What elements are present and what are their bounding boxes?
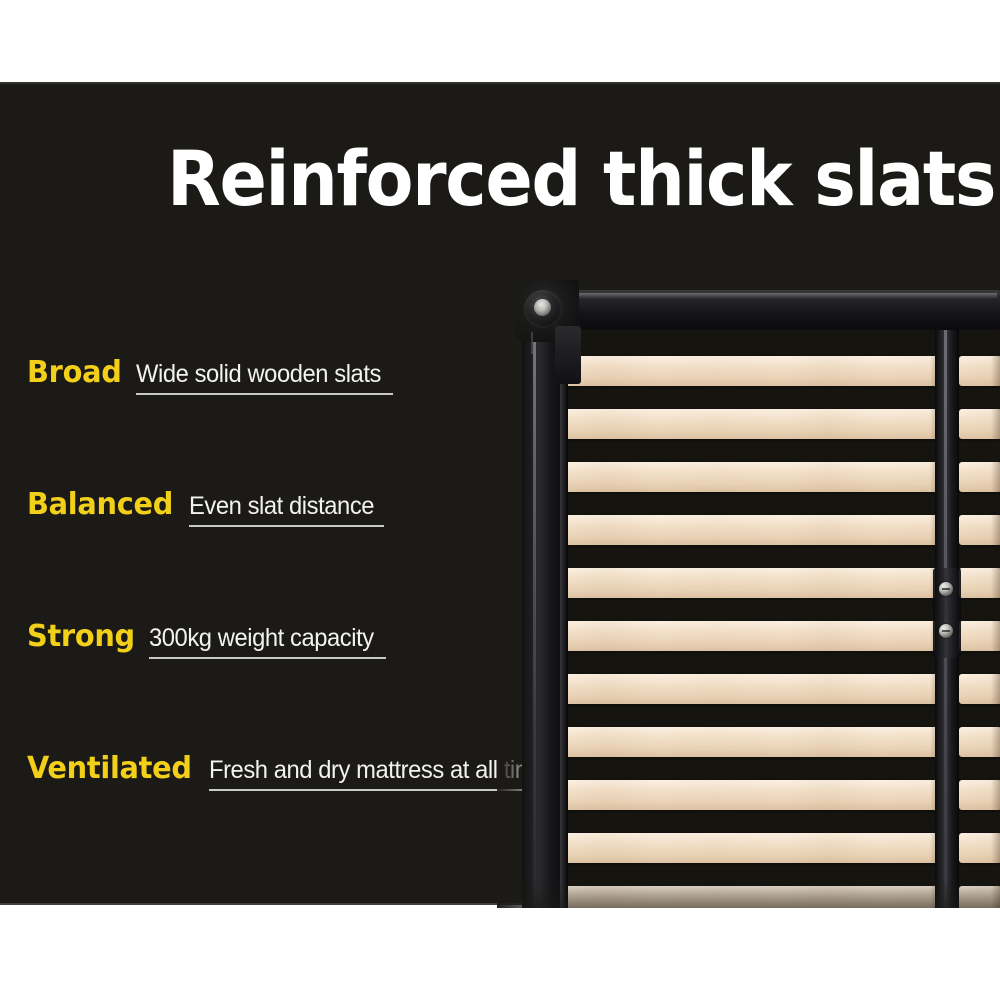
slat-end-cap [991, 462, 1000, 492]
feature-description-group: 300kg weight capacity [149, 624, 386, 659]
slat-wood-grain [567, 727, 939, 757]
wooden-slat [959, 568, 1000, 598]
page-title: Reinforced thick slats [167, 139, 995, 219]
wooden-slat [959, 356, 1000, 386]
wooden-slat [567, 833, 939, 863]
feature-term: Broad [27, 356, 122, 390]
wooden-slat [959, 886, 1000, 908]
wooden-slat [567, 568, 939, 598]
feature-item-broad: Broad Wide solid wooden slats [27, 356, 393, 395]
corner-bracket-seam [531, 332, 533, 354]
feature-description: Wide solid wooden slats [136, 360, 381, 388]
wooden-slat [567, 409, 939, 439]
feature-item-ventilated: Ventilated Fresh and dry mattress at all… [27, 752, 576, 791]
panel-top-edge [0, 82, 1000, 84]
feature-underline [149, 657, 386, 659]
wooden-slat [567, 886, 939, 908]
slat-wood-grain [567, 886, 939, 908]
feature-term: Balanced [27, 488, 173, 522]
product-photo-bed-slats [497, 268, 1000, 908]
wooden-slat [959, 462, 1000, 492]
slat-wood-grain [567, 833, 939, 863]
wooden-slat [959, 515, 1000, 545]
wooden-slat [567, 780, 939, 810]
wooden-slat [959, 409, 1000, 439]
slat-wood-grain [567, 674, 939, 704]
side-rail-inner-edge [560, 302, 567, 908]
wooden-slat [567, 356, 939, 386]
slat-end-cap [991, 674, 1000, 704]
screw-icon [939, 582, 953, 596]
wooden-slat [959, 621, 1000, 651]
slat-wood-grain [567, 356, 939, 386]
slat-end-cap [991, 886, 1000, 908]
slat-end-cap [991, 780, 1000, 810]
slat-wood-grain [567, 568, 939, 598]
slat-wood-grain [567, 621, 939, 651]
slat-wood-grain [567, 780, 939, 810]
screw-icon [939, 624, 953, 638]
top-rail-highlight-icon [531, 293, 997, 299]
wooden-slat [567, 621, 939, 651]
slat-end-cap [991, 833, 1000, 863]
feature-description-group: Wide solid wooden slats [136, 360, 394, 395]
feature-underline [189, 525, 384, 527]
feature-description: Even slat distance [189, 492, 374, 520]
feature-description: 300kg weight capacity [149, 624, 374, 652]
feature-item-strong: Strong 300kg weight capacity [27, 620, 386, 659]
feature-term: Strong [27, 620, 135, 654]
wooden-slat [567, 515, 939, 545]
feature-underline [136, 393, 394, 395]
feature-item-balanced: Balanced Even slat distance [27, 488, 384, 527]
slat-end-cap [991, 356, 1000, 386]
wooden-slat [567, 674, 939, 704]
slat-end-cap [991, 727, 1000, 757]
corner-bolt-cap-icon [534, 299, 551, 316]
slat-end-cap [991, 409, 1000, 439]
wooden-slat [959, 727, 1000, 757]
slat-wood-grain [567, 462, 939, 492]
corner-bracket-tab [555, 326, 581, 384]
wooden-slat [959, 674, 1000, 704]
screw-slot [942, 630, 950, 632]
feature-description-group: Even slat distance [189, 492, 384, 527]
wooden-slat [567, 727, 939, 757]
slat-end-cap [991, 515, 1000, 545]
infographic-canvas: Reinforced thick slats Broad Wide solid … [0, 0, 1000, 1000]
slat-end-cap [991, 568, 1000, 598]
side-rail-highlight-icon [533, 308, 536, 908]
slat-end-cap [991, 621, 1000, 651]
wooden-slat [567, 462, 939, 492]
wooden-slat [959, 833, 1000, 863]
feature-term: Ventilated [27, 752, 192, 786]
wooden-slat [959, 780, 1000, 810]
screw-slot [942, 588, 950, 590]
slat-wood-grain [567, 515, 939, 545]
slat-wood-grain [567, 409, 939, 439]
